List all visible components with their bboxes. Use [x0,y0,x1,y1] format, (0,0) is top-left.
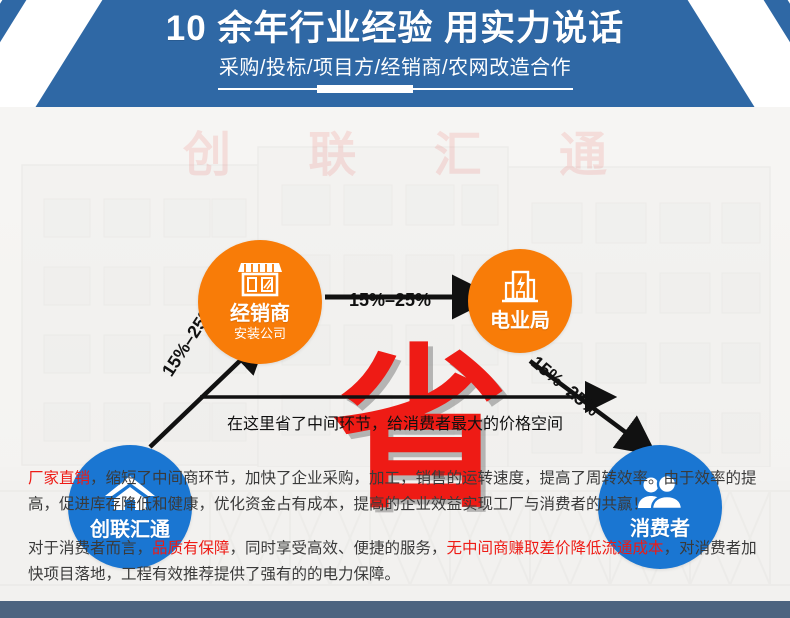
node-dealer-sublabel: 安装公司 [234,326,286,343]
node-dealer-label: 经销商 [230,304,290,325]
paragraph-1: 厂家直销，缩短了中间商环节，加快了企业采购，加工，销售的运转速度，提高了周转效率… [28,466,768,518]
body-copy: 厂家直销，缩短了中间商环节，加快了企业采购，加工，销售的运转速度，提高了周转效率… [28,466,768,606]
header-banner: 10 余年行业经验 用实力说话 采购/投标/项目方/经销商/农网改造合作 [0,0,790,107]
paragraph-2-highlight-1: 品质有保障 [152,540,230,557]
node-bureau-label: 电业局 [490,311,550,332]
node-dealer[interactable]: 经销商 安装公司 [198,240,322,364]
paragraph-2: 对于消费者而言，品质有保障，同时享受高效、便捷的服务，无中间商赚取差价降低流通成… [28,536,768,588]
banner-divider [218,87,573,92]
node-bureau[interactable]: 电业局 [468,249,572,353]
paragraph-2-text-b: ，同时享受高效、便捷的服务， [230,540,447,557]
banner-title: 10 余年行业经验 用实力说话 [166,9,624,48]
storefront-icon [237,261,283,302]
paragraph-2-highlight-2: 无中间商赚取差价降低流通成本 [447,540,664,557]
banner-subtitle: 采购/投标/项目方/经销商/农网改造合作 [219,51,571,80]
paragraph-2-text-a: 对于消费者而言， [28,540,152,557]
arrow-label-dealer-to-bureau: 15%–25% [349,290,431,311]
power-building-icon [500,270,540,309]
paragraph-1-text: ，缩短了中间商环节，加快了企业采购，加工，销售的运转速度，提高了周转效率。由于效… [28,470,757,513]
promo-banner-page: 10 余年行业经验 用实力说话 采购/投标/项目方/经销商/农网改造合作 [0,0,790,618]
flow-caption: 在这里省了中间环节，给消费者最大的价格空间 [200,410,590,434]
background-watermark: 创 联 汇 通 [0,115,790,185]
footer-bar [0,601,790,618]
paragraph-1-highlight: 厂家直销 [28,470,90,487]
